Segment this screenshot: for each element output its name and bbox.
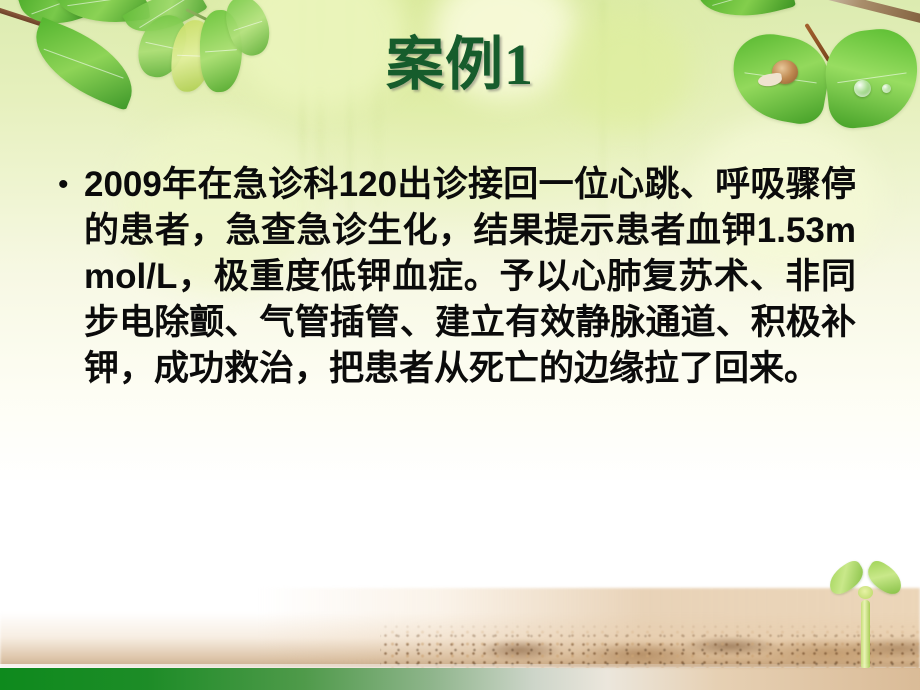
- leaf-shape: [696, 0, 796, 28]
- bullet-marker: •: [56, 162, 84, 208]
- sprout-node: [858, 586, 873, 599]
- slide-title: 案例1: [0, 36, 920, 94]
- branch-twig: [811, 0, 920, 26]
- branch-twig: [0, 6, 61, 32]
- soil-texture: [0, 588, 920, 668]
- bottom-green-bar: [0, 668, 920, 690]
- sprout-icon: [828, 556, 904, 668]
- leaf-shape: [54, 0, 150, 29]
- slide-body-text: 2009年在急诊科120出诊接回一位心跳、呼吸骤停的患者，急查急诊生化，结果提示…: [84, 162, 856, 392]
- sprout-stem: [861, 600, 870, 668]
- slide-body-bullet-item: • 2009年在急诊科120出诊接回一位心跳、呼吸骤停的患者，急查急诊生化，结果…: [56, 162, 856, 392]
- leaf-shape: [17, 0, 90, 35]
- presentation-slide: 案例1 • 2009年在急诊科120出诊接回一位心跳、呼吸骤停的患者，急查急诊生…: [0, 0, 920, 690]
- branch-twig: [185, 8, 228, 31]
